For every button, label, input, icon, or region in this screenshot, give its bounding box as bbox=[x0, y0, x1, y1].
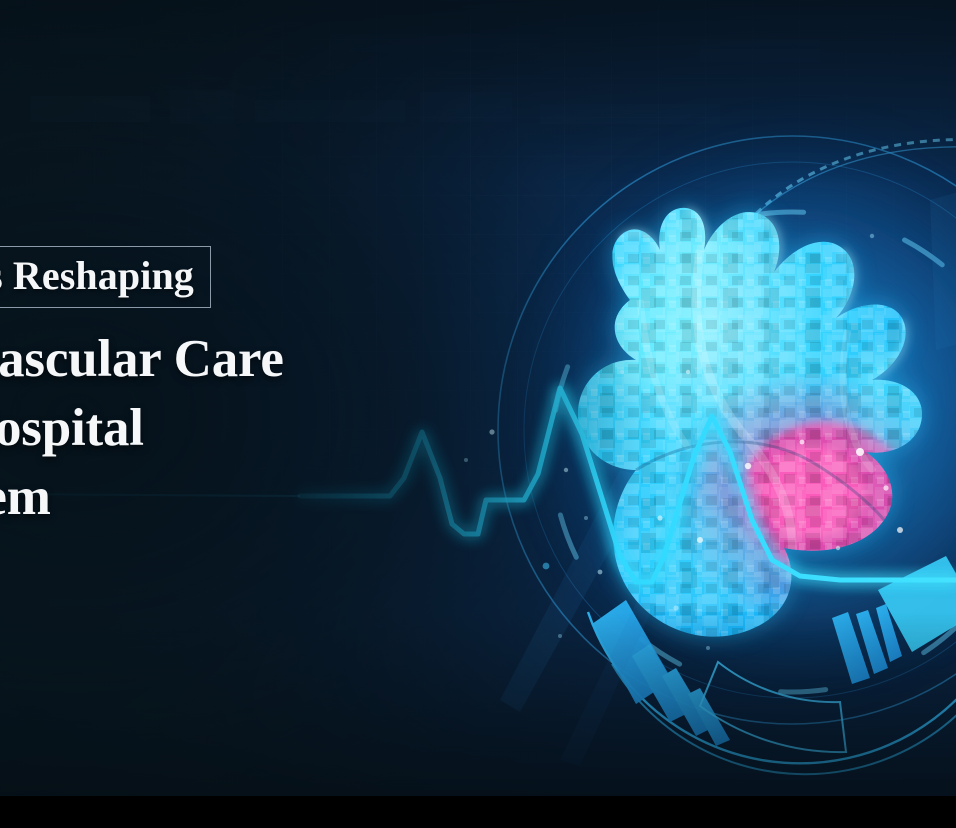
headline-line-2: in the Hospital bbox=[0, 394, 454, 463]
headline-line-1: Cardiovascular Care bbox=[0, 325, 454, 394]
kicker-box: How AI is Reshaping bbox=[0, 246, 211, 308]
page-title: Cardiovascular Care in the Hospital Ecos… bbox=[0, 325, 454, 532]
headline-block: How AI is Reshaping Cardiovascular Care … bbox=[0, 246, 454, 561]
banner-canvas: How AI is Reshaping Cardiovascular Care … bbox=[0, 0, 956, 828]
bottom-letterbox-bar bbox=[0, 796, 956, 828]
kicker-text: How AI is Reshaping bbox=[0, 256, 194, 296]
headline-line-3: Ecosystem bbox=[0, 463, 454, 532]
